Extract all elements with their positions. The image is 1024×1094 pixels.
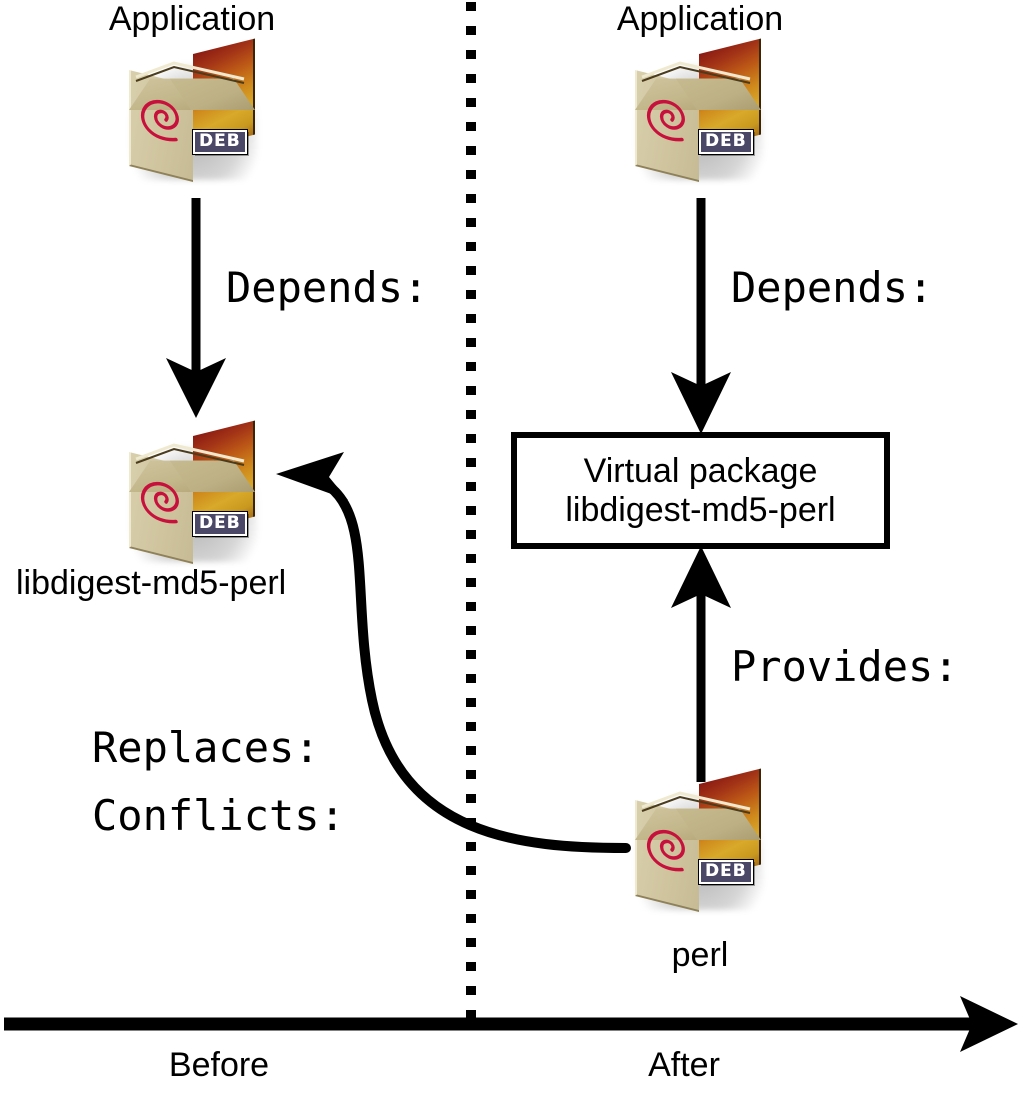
timeline-axis-icon xyxy=(4,996,1018,1052)
depends-arrow-after-icon xyxy=(671,198,731,434)
package-flap-crease xyxy=(640,789,752,823)
conflicts-label: Conflicts: xyxy=(92,794,345,838)
depends-arrow-before-icon xyxy=(166,198,226,418)
before-application-label: Application xyxy=(109,2,275,38)
package-flap-crease xyxy=(134,441,246,475)
after-application-package-icon: DEB xyxy=(626,48,776,188)
libdigest-md5-perl-package-icon: DEB xyxy=(120,430,270,570)
virtual-package-line1: Virtual package xyxy=(584,452,818,490)
libdigest-md5-perl-label: libdigest-md5-perl xyxy=(16,566,286,602)
provides-arrow-icon xyxy=(671,546,731,782)
deb-badge: DEB xyxy=(193,130,247,154)
before-application-package-icon: DEB xyxy=(120,48,270,188)
perl-package-icon: DEB xyxy=(626,778,776,918)
perl-label: perl xyxy=(672,938,729,974)
after-application-label: Application xyxy=(617,2,783,38)
timeline-before-label: Before xyxy=(169,1048,269,1084)
after-depends-label: Depends: xyxy=(731,266,933,310)
deb-badge: DEB xyxy=(193,512,247,536)
provides-label: Provides: xyxy=(731,645,959,689)
virtual-package-line2: libdigest-md5-perl xyxy=(565,491,835,529)
virtual-package-box: Virtual package libdigest-md5-perl xyxy=(511,432,890,549)
diagram-canvas: libdigest-md5-perl (Depends:) --> Virtua… xyxy=(0,0,1024,1094)
timeline-after-label: After xyxy=(648,1048,720,1084)
deb-badge: DEB xyxy=(699,130,753,154)
package-flap-crease xyxy=(134,59,246,93)
before-depends-label: Depends: xyxy=(226,266,428,310)
package-flap-crease xyxy=(640,59,752,93)
replaces-label: Replaces: xyxy=(92,726,320,770)
deb-badge: DEB xyxy=(699,860,753,884)
